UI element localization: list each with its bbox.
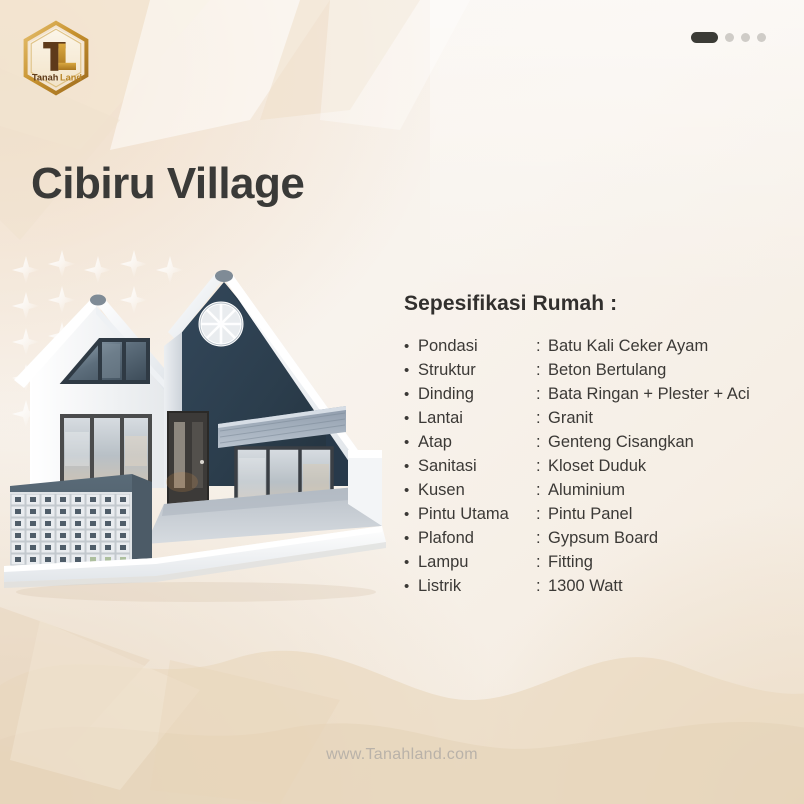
spec-row: • Struktur : Beton Bertulang xyxy=(404,362,802,379)
spec-label: Lantai xyxy=(418,410,536,427)
spec-separator: : xyxy=(536,338,548,355)
bullet-icon: • xyxy=(404,531,418,546)
spec-value: Granit xyxy=(548,410,802,427)
svg-text:Tanah: Tanah xyxy=(32,72,59,82)
spec-separator: : xyxy=(536,530,548,547)
spec-label: Sanitasi xyxy=(418,458,536,475)
spec-separator: : xyxy=(536,434,548,451)
spec-row: • Dinding : Bata Ringan + Plester + Aci xyxy=(404,386,802,403)
spec-label: Struktur xyxy=(418,362,536,379)
spec-separator: : xyxy=(536,410,548,427)
bullet-icon: • xyxy=(404,483,418,498)
bullet-icon: • xyxy=(404,363,418,378)
spec-label: Kusen xyxy=(418,482,536,499)
spec-row: • Listrik : 1300 Watt xyxy=(404,578,802,595)
spec-value: Aluminium xyxy=(548,482,802,499)
round-window xyxy=(200,303,242,345)
spec-label: Pintu Utama xyxy=(418,506,536,523)
spec-value: Genteng Cisangkan xyxy=(548,434,802,451)
spec-row: • Lantai : Granit xyxy=(404,410,802,427)
spec-list: • Pondasi : Batu Kali Ceker Ayam • Struk… xyxy=(404,338,802,595)
spec-value: Gypsum Board xyxy=(548,530,802,547)
poster-canvas: Tanah Land Cibiru Village xyxy=(0,0,804,804)
carousel-pagination[interactable] xyxy=(691,32,766,43)
spec-label: Pondasi xyxy=(418,338,536,355)
bullet-icon: • xyxy=(404,387,418,402)
spec-row: • Atap : Genteng Cisangkan xyxy=(404,434,802,451)
spec-separator: : xyxy=(536,506,548,523)
spec-value: Batu Kali Ceker Ayam xyxy=(548,338,802,355)
spec-value: Pintu Panel xyxy=(548,506,802,523)
spec-label: Lampu xyxy=(418,554,536,571)
page-title: Cibiru Village xyxy=(31,160,304,208)
bullet-icon: • xyxy=(404,579,418,594)
spec-value: Fitting xyxy=(548,554,802,571)
spec-label: Plafond xyxy=(418,530,536,547)
main-door xyxy=(168,412,208,508)
spec-label: Listrik xyxy=(418,578,536,595)
spec-row: • Pondasi : Batu Kali Ceker Ayam xyxy=(404,338,802,355)
bullet-icon: • xyxy=(404,339,418,354)
carousel-dot-2[interactable] xyxy=(725,33,734,42)
spec-value: Bata Ringan + Plester + Aci xyxy=(548,386,802,403)
carousel-dot-4[interactable] xyxy=(757,33,766,42)
bullet-icon: • xyxy=(404,507,418,522)
spec-value: Beton Bertulang xyxy=(548,362,802,379)
breeze-block-fence xyxy=(10,474,152,574)
spec-value: Kloset Duduk xyxy=(548,458,802,475)
svg-text:Land: Land xyxy=(60,72,82,82)
bullet-icon: • xyxy=(404,435,418,450)
spec-heading: Sepesifikasi Rumah : xyxy=(404,292,802,316)
spec-separator: : xyxy=(536,554,548,571)
spec-value: 1300 Watt xyxy=(548,578,802,595)
bullet-icon: • xyxy=(404,411,418,426)
spec-label: Dinding xyxy=(418,386,536,403)
footer-website[interactable]: www.Tanahland.com xyxy=(0,746,804,764)
spec-separator: : xyxy=(536,458,548,475)
spec-separator: : xyxy=(536,482,548,499)
bullet-icon: • xyxy=(404,459,418,474)
spec-separator: : xyxy=(536,578,548,595)
house-illustration xyxy=(0,236,416,616)
spec-row: • Sanitasi : Kloset Duduk xyxy=(404,458,802,475)
carousel-dot-1[interactable] xyxy=(691,32,718,43)
spec-separator: : xyxy=(536,386,548,403)
spec-row: • Pintu Utama : Pintu Panel xyxy=(404,506,802,523)
spec-label: Atap xyxy=(418,434,536,451)
spec-separator: : xyxy=(536,362,548,379)
spec-row: • Lampu : Fitting xyxy=(404,554,802,571)
specification-panel: Sepesifikasi Rumah : • Pondasi : Batu Ka… xyxy=(404,292,802,602)
tanahland-logo[interactable]: Tanah Land xyxy=(16,18,96,98)
spec-row: • Kusen : Aluminium xyxy=(404,482,802,499)
carousel-dot-3[interactable] xyxy=(741,33,750,42)
bullet-icon: • xyxy=(404,555,418,570)
spec-row: • Plafond : Gypsum Board xyxy=(404,530,802,547)
